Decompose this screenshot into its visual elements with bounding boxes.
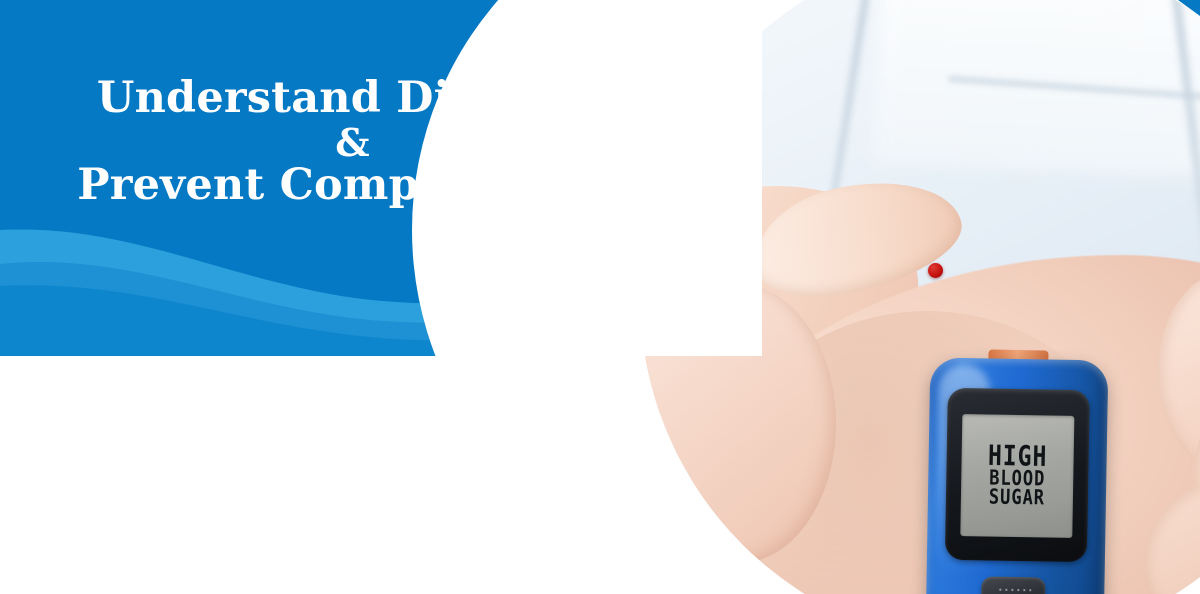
headline-ampersand: & xyxy=(0,123,705,163)
headline-line-1: Understand Diabetes xyxy=(0,76,705,121)
page-title: Understand Diabetes & Prevent Complicati… xyxy=(0,76,705,208)
corner-accent-triangle xyxy=(1178,0,1200,16)
banner-root: HIGH BLOOD SUGAR xyxy=(0,0,1200,594)
headline-line-3: Prevent Complications xyxy=(0,163,705,208)
